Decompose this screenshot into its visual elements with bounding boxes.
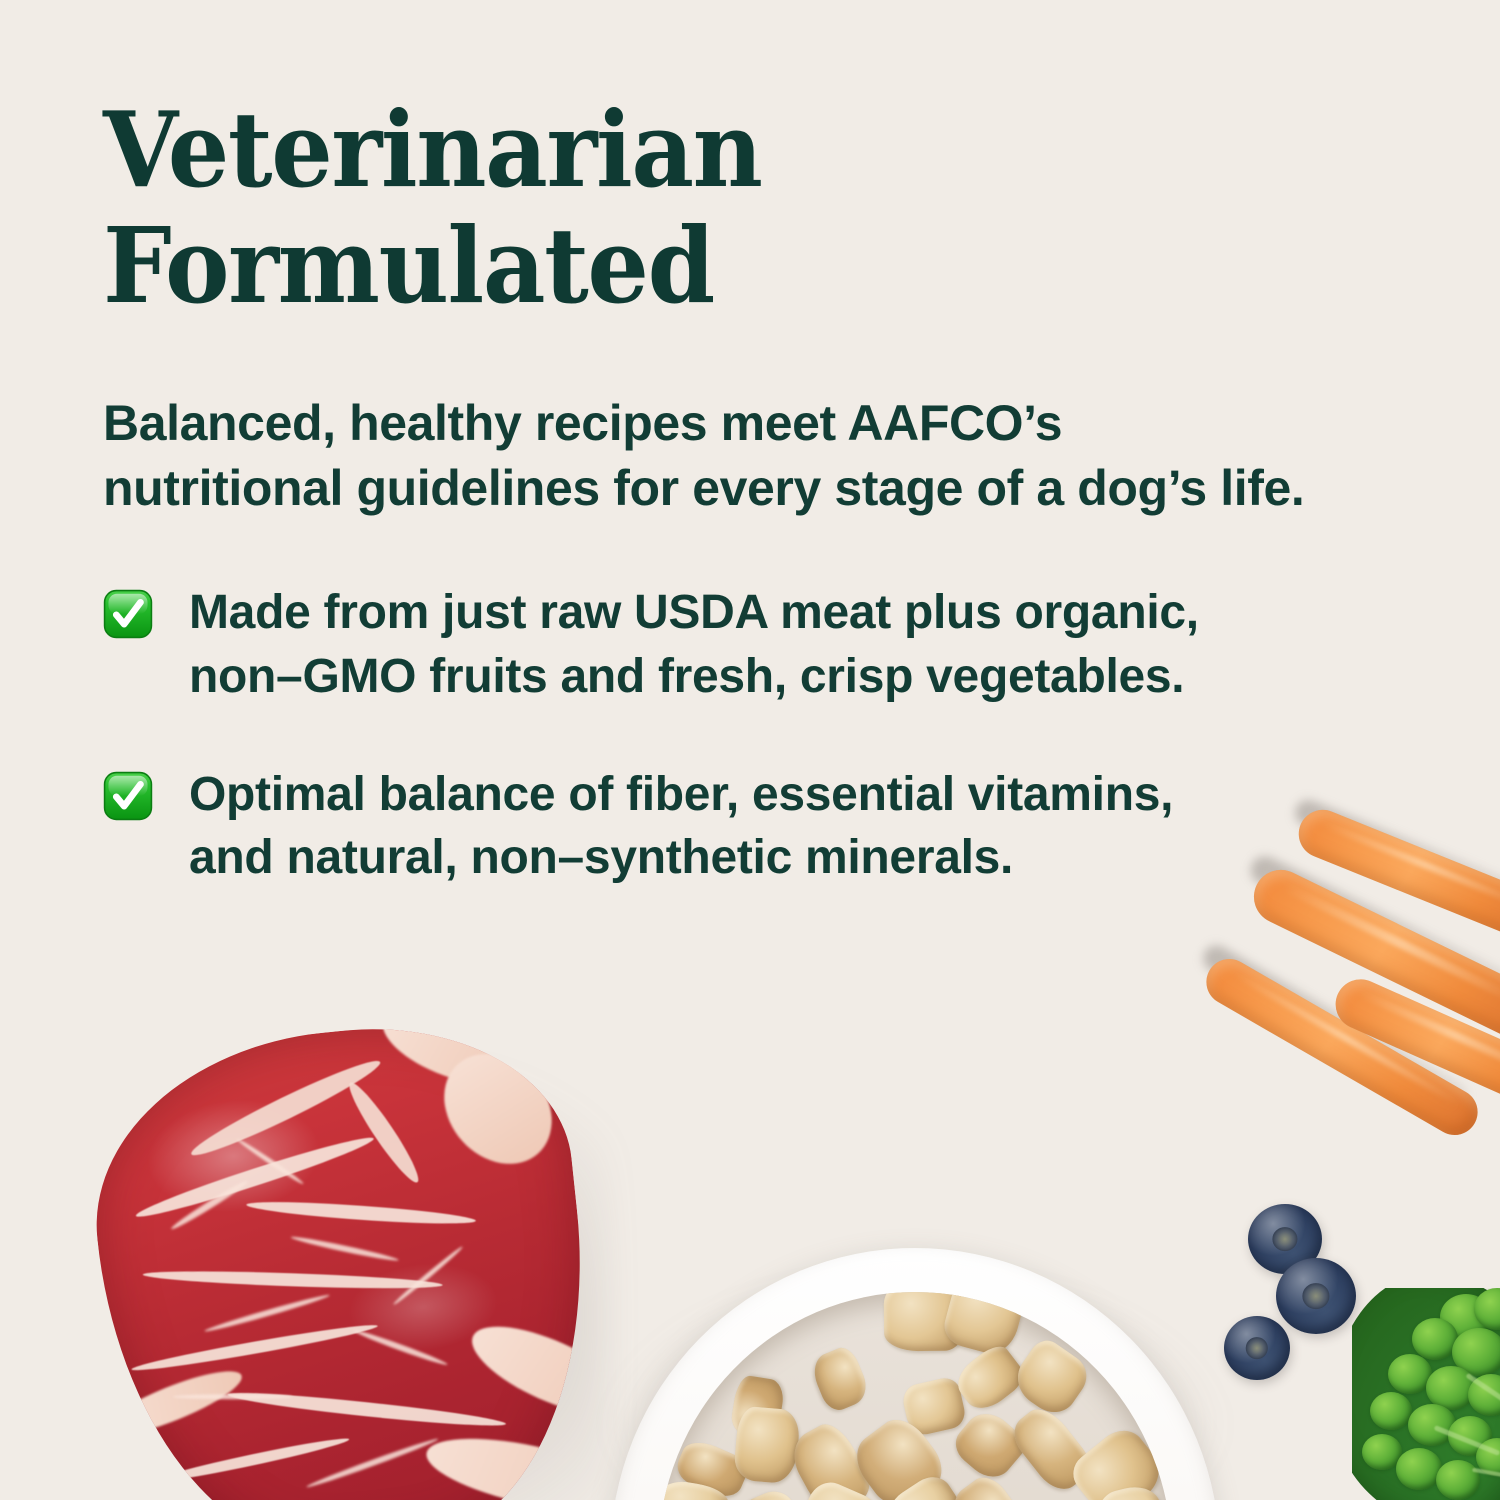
feature-line-2: non–GMO fruits and fresh, crisp vegetabl…	[189, 645, 1199, 709]
feature-list: Made from just raw USDA meat plus organi…	[103, 581, 1443, 890]
kibble-piece	[739, 1484, 809, 1500]
bowl-shadow	[600, 1268, 1230, 1500]
subtitle-line-1: Balanced, healthy recipes meet AAFCO’s	[103, 391, 1443, 456]
feature-list-item-text: Optimal balance of fiber, essential vita…	[189, 763, 1173, 891]
raw-steak-photo	[60, 1020, 620, 1500]
blueberry-crown	[1246, 1337, 1268, 1359]
copy-block: Veterinarian Formulated Balanced, health…	[103, 92, 1443, 944]
subtitle: Balanced, healthy recipes meet AAFCO’s n…	[103, 391, 1443, 521]
blueberry-2	[1276, 1258, 1356, 1334]
kibble-piece	[783, 1417, 876, 1500]
blueberry-crown	[1302, 1283, 1329, 1309]
kale-leaf-body	[1352, 1288, 1500, 1500]
kibble-piece	[949, 1340, 1029, 1417]
kibble-piece	[846, 1409, 952, 1500]
blueberry-1	[1248, 1204, 1322, 1274]
kibble-piece	[884, 1292, 965, 1351]
white-bowl	[610, 1248, 1220, 1500]
feature-line-2: and natural, non–synthetic minerals.	[189, 826, 1173, 890]
page-title-line-2: Formulated	[103, 208, 1349, 324]
blueberry-crown	[1272, 1227, 1297, 1251]
product-feature-banner: Veterinarian Formulated Balanced, health…	[0, 0, 1500, 1500]
blueberry-3	[1224, 1316, 1290, 1380]
kibble-piece	[901, 1375, 969, 1438]
kibble-piece	[658, 1478, 730, 1500]
feature-line-1: Made from just raw USDA meat plus organi…	[189, 581, 1199, 645]
kibble-piece	[1007, 1334, 1095, 1422]
kibble-piece	[1065, 1421, 1170, 1500]
feature-line-1: Optimal balance of fiber, essential vita…	[189, 763, 1173, 827]
kibble-piece	[939, 1292, 1027, 1359]
steak-body	[78, 1008, 609, 1500]
kale-photo	[1352, 1288, 1500, 1500]
kibble-piece	[807, 1343, 872, 1414]
check-mark-button-icon	[103, 589, 153, 639]
kibble-piece	[1005, 1400, 1096, 1497]
page-title-line-1: Veterinarian	[103, 92, 1349, 208]
feature-list-item-text: Made from just raw USDA meat plus organi…	[189, 581, 1199, 709]
steak-shadow	[138, 1044, 608, 1500]
page-title: Veterinarian Formulated	[103, 92, 1349, 325]
kibble-bowl-photo	[590, 1248, 1240, 1500]
kibble-piece	[1092, 1482, 1171, 1500]
subtitle-line-2: nutritional guidelines for every stage o…	[103, 456, 1443, 521]
kibble-piece	[945, 1469, 1039, 1500]
kibble-pile	[658, 1292, 1172, 1500]
kibble-piece	[882, 1469, 967, 1500]
check-mark-button-icon	[103, 771, 153, 821]
kibble-piece	[672, 1435, 751, 1500]
kibble-piece	[733, 1406, 800, 1484]
feature-list-item: Optimal balance of fiber, essential vita…	[103, 763, 1443, 891]
kibble-piece	[795, 1476, 886, 1500]
kibble-piece	[729, 1374, 786, 1440]
feature-list-item: Made from just raw USDA meat plus organi…	[103, 581, 1443, 709]
kibble-piece	[949, 1404, 1031, 1486]
